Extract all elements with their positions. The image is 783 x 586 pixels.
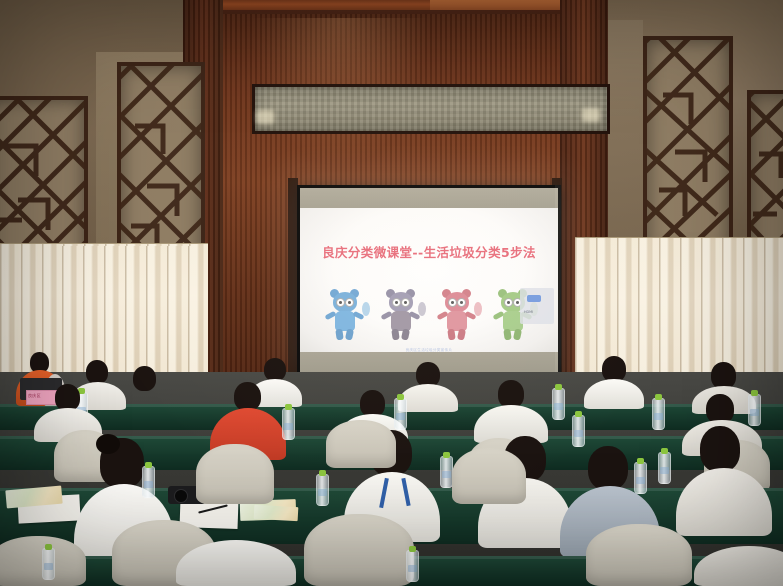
water-bottle-foreground-a[interactable] [42, 548, 55, 580]
water-bottle-r2-c[interactable] [572, 415, 585, 447]
chair-r3-a[interactable] [196, 444, 274, 504]
water-bottle-r2-d[interactable] [652, 398, 665, 430]
blue-recyclable-mascot-icon [328, 292, 362, 340]
water-bottle-r3-d[interactable] [634, 462, 647, 494]
lattice-panel-right [643, 36, 733, 256]
chair-foreground-mid[interactable] [304, 514, 414, 586]
water-bottle-r2-a[interactable] [282, 408, 295, 440]
slide-title: 良庆分类微课堂--生活垃圾分类5步法 [300, 242, 558, 261]
projection-screen[interactable]: 良庆分类微课堂--生活垃圾分类5步法 [297, 185, 561, 381]
chair-r3-c[interactable] [452, 448, 526, 504]
water-bottle-r2-b[interactable] [394, 398, 407, 430]
projector-osd-panel[interactable]: HDMI [520, 288, 554, 324]
frosted-glass-transom [252, 84, 610, 134]
screen-top-border [300, 188, 558, 208]
projected-slide: 良庆分类微课堂--生活垃圾分类5步法 [300, 208, 558, 352]
name-card-text: 良庆区 [28, 393, 41, 399]
water-bottle-r3-a[interactable] [142, 466, 155, 498]
transom-glare-right [582, 108, 600, 122]
red-hazardous-waste-mascot-icon [440, 292, 474, 340]
water-bottle-r2-e[interactable] [748, 394, 761, 426]
water-bottle-r1-b[interactable] [552, 388, 565, 420]
chair-foreground-right[interactable] [586, 524, 692, 586]
osd-label: HDMI [524, 310, 533, 314]
conference-room-photo: 良庆分类微课堂--生活垃圾分类5步法 [0, 0, 783, 586]
water-bottle-r3-b[interactable] [316, 474, 329, 506]
chair-r3-b[interactable] [326, 420, 396, 468]
leaflet-r3-c[interactable] [254, 505, 299, 521]
transom-glare-left [256, 110, 274, 124]
presenter-name-card: 良庆区 [26, 390, 58, 405]
gray-other-waste-mascot-icon [384, 292, 418, 340]
water-bottle-foreground-b[interactable] [406, 550, 419, 582]
water-bottle-r3-e[interactable] [658, 452, 671, 484]
osd-highlight-chip [527, 295, 541, 302]
